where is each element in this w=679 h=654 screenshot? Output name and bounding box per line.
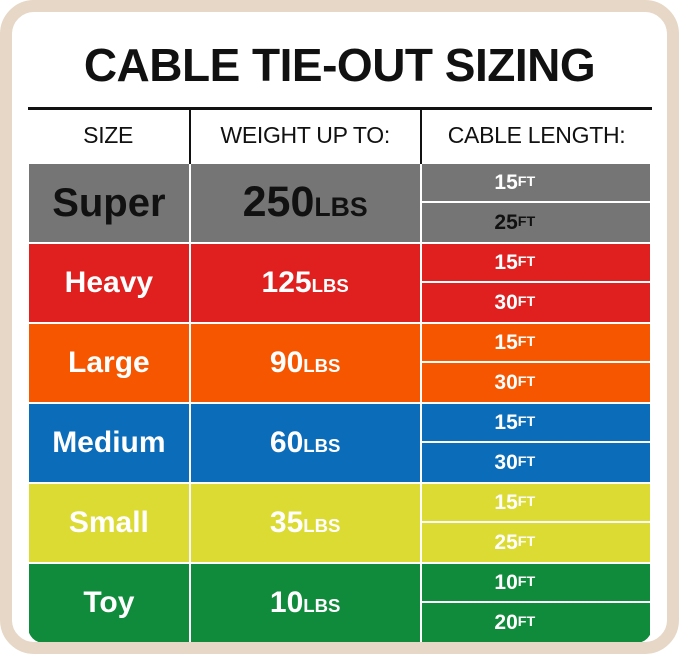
length-number: 15: [494, 172, 517, 193]
length-option: 30FT: [422, 443, 650, 482]
weight-number: 250: [243, 178, 315, 226]
weight-value: 125LBS: [262, 266, 349, 299]
table-row: Large90LBS15FT30FT: [28, 323, 652, 403]
table-row: Medium60LBS15FT30FT: [28, 403, 652, 483]
length-unit: FT: [518, 455, 535, 469]
poster-inner: CABLE TIE-OUT SIZING SIZE WEIGHT UP TO: …: [12, 12, 667, 642]
weight-number: 90: [270, 346, 303, 379]
weight-unit: LBS: [312, 275, 349, 296]
length-number: 15: [494, 412, 517, 433]
length-unit: FT: [518, 535, 535, 549]
size-cell-small: Small: [28, 483, 190, 563]
length-stack: 15FT30FT: [422, 324, 650, 402]
size-cell-large: Large: [28, 323, 190, 403]
length-unit: FT: [518, 415, 535, 429]
weight-cell-small: 35LBS: [190, 483, 421, 563]
length-number: 15: [494, 332, 517, 353]
length-number: 30: [494, 372, 517, 393]
length-option: 15FT: [422, 244, 650, 283]
length-option: 30FT: [422, 363, 650, 402]
size-cell-heavy: Heavy: [28, 243, 190, 323]
weight-cell-toy: 10LBS: [190, 563, 421, 643]
header-row: SIZE WEIGHT UP TO: CABLE LENGTH:: [28, 109, 652, 163]
size-cell-medium: Medium: [28, 403, 190, 483]
length-unit: FT: [518, 295, 535, 309]
length-unit: FT: [518, 495, 535, 509]
weight-cell-super: 250LBS: [190, 163, 421, 243]
weight-value: 60LBS: [270, 426, 341, 459]
length-unit: FT: [518, 175, 535, 189]
length-option: 15FT: [422, 164, 650, 203]
weight-value: 35LBS: [270, 506, 341, 539]
length-unit: FT: [518, 615, 535, 629]
weight-value: 10LBS: [270, 586, 341, 619]
length-option: 25FT: [422, 523, 650, 562]
sizing-table: SIZE WEIGHT UP TO: CABLE LENGTH: Super25…: [26, 107, 653, 642]
length-cell-super: 15FT25FT: [421, 163, 652, 243]
length-number: 25: [494, 212, 517, 233]
table-row: Toy10LBS10FT20FT: [28, 563, 652, 643]
length-unit: FT: [518, 215, 535, 229]
size-label: Heavy: [65, 266, 153, 299]
size-label: Medium: [52, 426, 165, 459]
size-cell-toy: Toy: [28, 563, 190, 643]
length-unit: FT: [518, 335, 535, 349]
weight-value: 90LBS: [270, 346, 341, 379]
length-stack: 15FT25FT: [422, 484, 650, 562]
length-cell-small: 15FT25FT: [421, 483, 652, 563]
table-row: Small35LBS15FT25FT: [28, 483, 652, 563]
page-title: CABLE TIE-OUT SIZING: [26, 25, 653, 107]
length-unit: FT: [518, 575, 535, 589]
length-cell-medium: 15FT30FT: [421, 403, 652, 483]
table-header: SIZE WEIGHT UP TO: CABLE LENGTH:: [28, 109, 652, 163]
weight-unit: LBS: [303, 435, 340, 456]
length-option: 15FT: [422, 324, 650, 363]
size-cell-super: Super: [28, 163, 190, 243]
table-row: Heavy125LBS15FT30FT: [28, 243, 652, 323]
length-unit: FT: [518, 255, 535, 269]
length-number: 15: [494, 492, 517, 513]
length-stack: 10FT20FT: [422, 564, 650, 642]
length-stack: 15FT30FT: [422, 244, 650, 322]
table-body: Super250LBS15FT25FTHeavy125LBS15FT30FTLa…: [28, 163, 652, 643]
weight-cell-medium: 60LBS: [190, 403, 421, 483]
length-cell-heavy: 15FT30FT: [421, 243, 652, 323]
length-cell-toy: 10FT20FT: [421, 563, 652, 643]
size-label: Small: [69, 506, 149, 539]
weight-number: 10: [270, 586, 303, 619]
table-row: Super250LBS15FT25FT: [28, 163, 652, 243]
column-header-weight: WEIGHT UP TO:: [190, 109, 421, 163]
weight-number: 35: [270, 506, 303, 539]
size-label: Toy: [83, 586, 134, 619]
length-option: 30FT: [422, 283, 650, 322]
sizing-poster: CABLE TIE-OUT SIZING SIZE WEIGHT UP TO: …: [0, 0, 679, 654]
length-stack: 15FT25FT: [422, 164, 650, 242]
weight-unit: LBS: [303, 595, 340, 616]
length-number: 10: [494, 572, 517, 593]
column-header-length: CABLE LENGTH:: [421, 109, 652, 163]
weight-number: 125: [262, 266, 312, 299]
weight-unit: LBS: [303, 515, 340, 536]
length-option: 15FT: [422, 404, 650, 443]
length-unit: FT: [518, 375, 535, 389]
length-number: 25: [494, 532, 517, 553]
weight-unit: LBS: [314, 192, 367, 222]
length-option: 15FT: [422, 484, 650, 523]
length-number: 30: [494, 452, 517, 473]
weight-unit: LBS: [303, 355, 340, 376]
weight-cell-heavy: 125LBS: [190, 243, 421, 323]
length-option: 20FT: [422, 603, 650, 642]
length-cell-large: 15FT30FT: [421, 323, 652, 403]
length-number: 20: [494, 612, 517, 633]
weight-cell-large: 90LBS: [190, 323, 421, 403]
length-stack: 15FT30FT: [422, 404, 650, 482]
length-option: 25FT: [422, 203, 650, 242]
length-number: 15: [494, 252, 517, 273]
size-label: Large: [68, 346, 150, 379]
weight-value: 250LBS: [243, 178, 368, 226]
length-option: 10FT: [422, 564, 650, 603]
size-label: Super: [52, 181, 165, 225]
column-header-size: SIZE: [28, 109, 190, 163]
weight-number: 60: [270, 426, 303, 459]
length-number: 30: [494, 292, 517, 313]
